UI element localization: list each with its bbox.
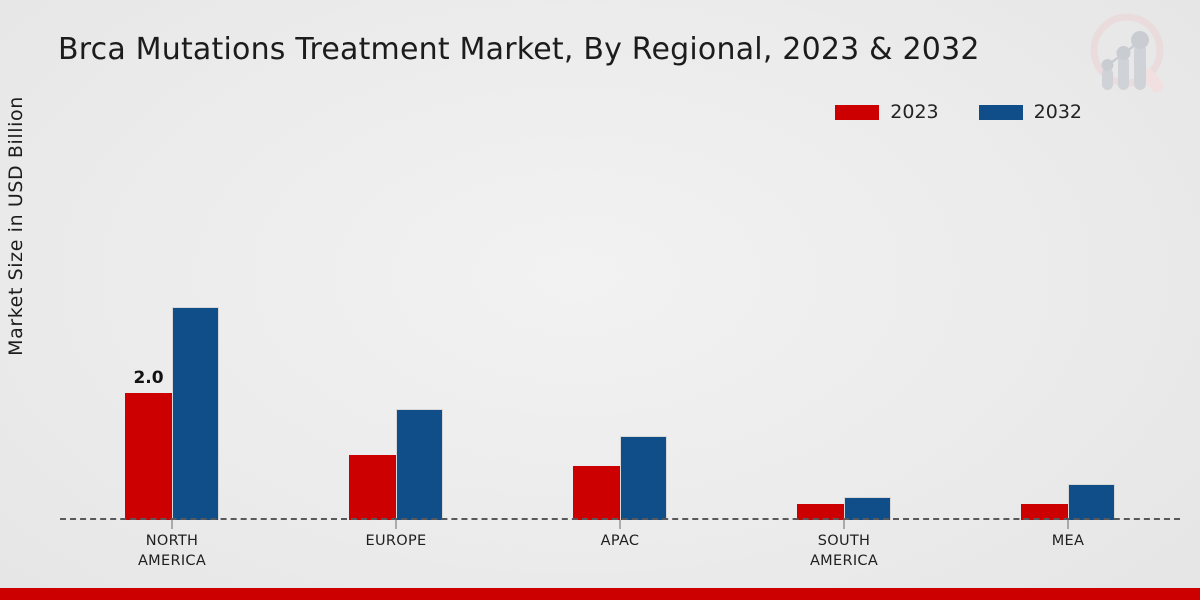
x-axis-tick bbox=[1068, 520, 1069, 529]
bar-2032-south-america[interactable] bbox=[844, 497, 891, 520]
legend-label-2032: 2032 bbox=[1034, 103, 1082, 122]
x-axis-category-label: NORTHAMERICA bbox=[138, 532, 206, 571]
x-axis-category-label: MEA bbox=[1052, 532, 1085, 552]
y-axis-title: Market Size in USD Billion bbox=[5, 56, 27, 396]
x-axis-tick bbox=[844, 520, 845, 529]
x-axis-category-label: APAC bbox=[601, 532, 640, 552]
bar-group: SOUTHAMERICA bbox=[732, 140, 956, 520]
bar-pair bbox=[349, 140, 443, 520]
bar-groups: 2.0NORTHAMERICAEUROPEAPACSOUTHAMERICAMEA bbox=[60, 140, 1180, 520]
bar-pair bbox=[797, 140, 891, 520]
bar-pair bbox=[573, 140, 667, 520]
bar-group: APAC bbox=[508, 140, 732, 520]
bar-2023-apac[interactable] bbox=[573, 466, 620, 520]
chart-title: Brca Mutations Treatment Market, By Regi… bbox=[58, 32, 980, 67]
legend-item-2032[interactable]: 2032 bbox=[979, 103, 1082, 122]
bar-2032-europe[interactable] bbox=[396, 409, 443, 520]
bar-2032-apac[interactable] bbox=[620, 436, 667, 520]
bar-2032-north-america[interactable] bbox=[172, 307, 219, 520]
bar-value-label: 2.0 bbox=[133, 368, 163, 388]
bar-pair bbox=[1021, 140, 1115, 520]
plot-area: 2.0NORTHAMERICAEUROPEAPACSOUTHAMERICAMEA bbox=[60, 140, 1180, 520]
chart-legend: 2023 2032 bbox=[835, 103, 1082, 122]
bar-group: EUROPE bbox=[284, 140, 508, 520]
bar-2023-north-america[interactable]: 2.0 bbox=[125, 393, 172, 520]
bar-pair: 2.0 bbox=[125, 140, 219, 520]
x-axis-category-label: EUROPE bbox=[366, 532, 427, 552]
x-axis-category-label: SOUTHAMERICA bbox=[810, 532, 878, 571]
footer-accent-bar bbox=[0, 588, 1200, 600]
chart-page: Brca Mutations Treatment Market, By Regi… bbox=[0, 0, 1200, 600]
watermark-logo-icon bbox=[1082, 6, 1186, 102]
x-axis-tick bbox=[396, 520, 397, 529]
legend-swatch-2023 bbox=[835, 105, 879, 120]
x-axis-baseline bbox=[60, 518, 1180, 520]
legend-item-2023[interactable]: 2023 bbox=[835, 103, 938, 122]
bar-group: MEA bbox=[956, 140, 1180, 520]
x-axis-tick bbox=[172, 520, 173, 529]
bar-2032-mea[interactable] bbox=[1068, 484, 1115, 520]
bar-2023-europe[interactable] bbox=[349, 455, 396, 520]
legend-swatch-2032 bbox=[979, 105, 1023, 120]
x-axis-tick bbox=[620, 520, 621, 529]
bar-group: 2.0NORTHAMERICA bbox=[60, 140, 284, 520]
legend-label-2023: 2023 bbox=[890, 103, 938, 122]
